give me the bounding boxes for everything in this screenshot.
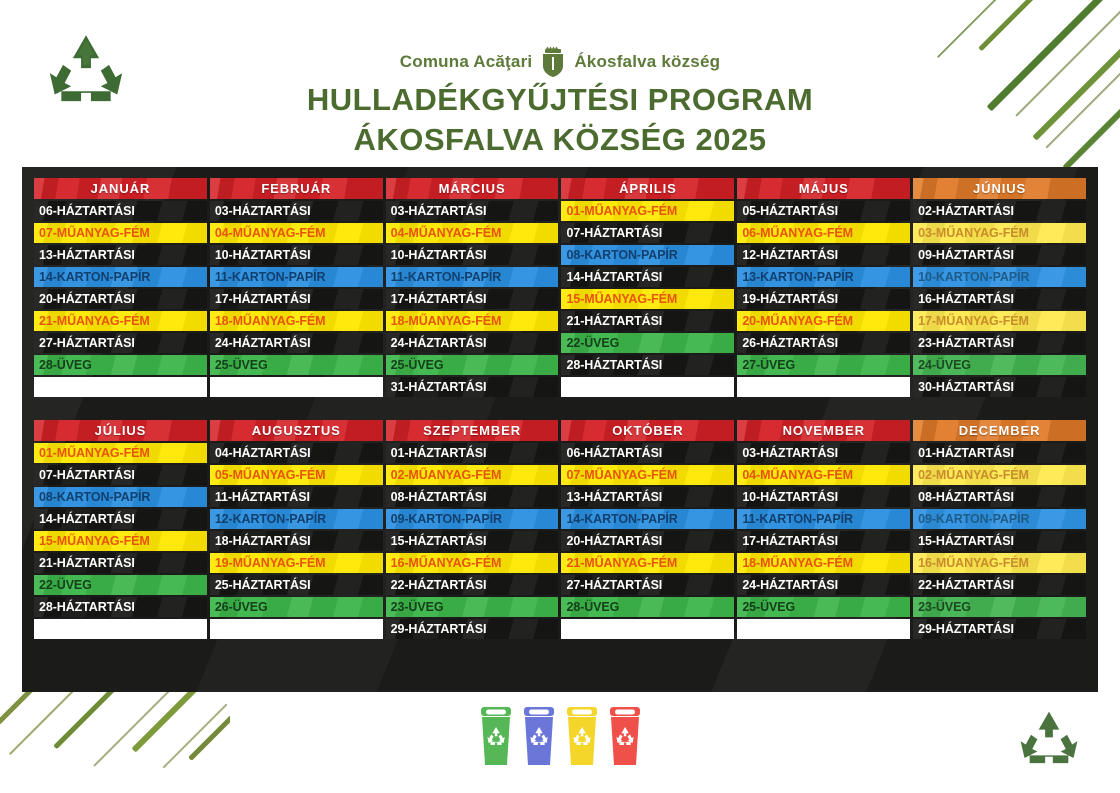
collection-cell-haztartasi[interactable]: 17-HÁZTARTÁSI: [386, 289, 559, 309]
collection-label: 18-MŰANYAG-FÉM: [742, 556, 853, 570]
collection-cell-karton[interactable]: 08-KARTON-PAPÍR: [34, 487, 207, 507]
collection-label: 09-HÁZTARTÁSI: [918, 248, 1014, 262]
collection-label: 03-HÁZTARTÁSI: [215, 204, 311, 218]
collection-label: 21-HÁZTARTÁSI: [39, 556, 135, 570]
collection-cell-haztartasi[interactable]: 21-HÁZTARTÁSI: [561, 311, 734, 331]
collection-label: 05-HÁZTARTÁSI: [742, 204, 838, 218]
collection-label: 14-KARTON-PAPÍR: [566, 512, 677, 526]
collection-label: 03-HÁZTARTÁSI: [391, 204, 487, 218]
empty-cell: [561, 377, 734, 397]
collection-label: 17-HÁZTARTÁSI: [391, 292, 487, 306]
collection-label: 08-KARTON-PAPÍR: [39, 490, 150, 504]
collection-label: 28-HÁZTARTÁSI: [39, 600, 135, 614]
month-header-november[interactable]: NOVEMBER: [737, 420, 910, 441]
collection-label: 08-KARTON-PAPÍR: [566, 248, 677, 262]
collection-cell-haztartasi[interactable]: 06-HÁZTARTÁSI: [34, 201, 207, 221]
month-name: NOVEMBER: [783, 423, 865, 438]
collection-cell-muanyag[interactable]: 03-MŰANYAG-FÉM: [913, 223, 1086, 243]
collection-cell-uveg[interactable]: 28-ÜVEG: [34, 355, 207, 375]
collection-cell-uveg[interactable]: 25-ÜVEG: [386, 355, 559, 375]
collection-label: 10-KARTON-PAPÍR: [918, 270, 1029, 284]
month-name: MÁRCIUS: [439, 181, 506, 196]
collection-label: 18-MŰANYAG-FÉM: [391, 314, 502, 328]
collection-label: 28-ÜVEG: [39, 358, 92, 372]
cell-texture: [210, 619, 383, 639]
collection-cell-karton[interactable]: 11-KARTON-PAPÍR: [210, 267, 383, 287]
collection-cell-karton[interactable]: 14-KARTON-PAPÍR: [34, 267, 207, 287]
collection-label: 01-HÁZTARTÁSI: [918, 446, 1014, 460]
collection-label: 19-MŰANYAG-FÉM: [215, 556, 326, 570]
collection-label: 16-MŰANYAG-FÉM: [391, 556, 502, 570]
collection-cell-haztartasi[interactable]: 17-HÁZTARTÁSI: [737, 531, 910, 551]
collection-cell-haztartasi[interactable]: 22-HÁZTARTÁSI: [913, 575, 1086, 595]
month-header-január[interactable]: JANUÁR: [34, 178, 207, 199]
collection-cell-muanyag[interactable]: 07-MŰANYAG-FÉM: [561, 465, 734, 485]
collection-label: 01-MŰANYAG-FÉM: [566, 204, 677, 218]
recycle-icon: [1016, 709, 1082, 767]
month-grid: JÚLIUSAUGUSZTUSSZEPTEMBEROKTÓBERNOVEMBER…: [31, 418, 1089, 641]
collection-row: 20-HÁZTARTÁSI17-HÁZTARTÁSI17-HÁZTARTÁSI1…: [34, 289, 1086, 309]
bin-yellow: [565, 707, 599, 765]
collection-cell-uveg[interactable]: 25-ÜVEG: [210, 355, 383, 375]
collection-cell-uveg[interactable]: 27-ÜVEG: [737, 355, 910, 375]
collection-label: 08-HÁZTARTÁSI: [391, 490, 487, 504]
collection-cell-muanyag[interactable]: 04-MŰANYAG-FÉM: [386, 223, 559, 243]
collection-label: 11-KARTON-PAPÍR: [742, 512, 853, 526]
month-header-szeptember[interactable]: SZEPTEMBER: [386, 420, 559, 441]
waste-bins-illustration: [0, 707, 1120, 765]
collection-label: 24-HÁZTARTÁSI: [742, 578, 838, 592]
collection-row: 21-HÁZTARTÁSI19-MŰANYAG-FÉM16-MŰANYAG-FÉ…: [34, 553, 1086, 573]
month-name: JÚLIUS: [95, 423, 147, 438]
collection-cell-muanyag[interactable]: 15-MŰANYAG-FÉM: [34, 531, 207, 551]
collection-label: 10-HÁZTARTÁSI: [215, 248, 311, 262]
cell-texture: [737, 619, 910, 639]
collection-label: 12-HÁZTARTÁSI: [742, 248, 838, 262]
collection-label: 24-HÁZTARTÁSI: [391, 336, 487, 350]
collection-label: 10-HÁZTARTÁSI: [391, 248, 487, 262]
collection-cell-haztartasi[interactable]: 05-HÁZTARTÁSI: [737, 201, 910, 221]
collection-label: 15-HÁZTARTÁSI: [918, 534, 1014, 548]
collection-cell-haztartasi[interactable]: 14-HÁZTARTÁSI: [34, 509, 207, 529]
month-header-február[interactable]: FEBRUÁR: [210, 178, 383, 199]
collection-row: 27-HÁZTARTÁSI24-HÁZTARTÁSI24-HÁZTARTÁSI2…: [34, 333, 1086, 353]
collection-cell-haztartasi[interactable]: 01-HÁZTARTÁSI: [913, 443, 1086, 463]
collection-cell-haztartasi[interactable]: 13-HÁZTARTÁSI: [561, 487, 734, 507]
collection-cell-muanyag[interactable]: 17-MŰANYAG-FÉM: [913, 311, 1086, 331]
month-header-október[interactable]: OKTÓBER: [561, 420, 734, 441]
collection-cell-haztartasi[interactable]: 23-HÁZTARTÁSI: [913, 333, 1086, 353]
collection-cell-muanyag[interactable]: 18-MŰANYAG-FÉM: [737, 553, 910, 573]
collection-cell-haztartasi[interactable]: 24-HÁZTARTÁSI: [210, 333, 383, 353]
collection-cell-uveg[interactable]: 22-ÜVEG: [34, 575, 207, 595]
month-name: ÁPRILIS: [619, 181, 677, 196]
collection-label: 12-KARTON-PAPÍR: [215, 512, 326, 526]
bin-green: [479, 707, 513, 765]
collection-cell-haztartasi[interactable]: 02-HÁZTARTÁSI: [913, 201, 1086, 221]
calendar-table-first-half: JANUÁRFEBRUÁRMÁRCIUSÁPRILISMÁJUSJÚNIUS06…: [31, 176, 1089, 399]
month-name: JANUÁR: [91, 181, 151, 196]
collection-label: 17-MŰANYAG-FÉM: [918, 314, 1029, 328]
collection-cell-muanyag[interactable]: 06-MŰANYAG-FÉM: [737, 223, 910, 243]
cell-texture: [34, 619, 207, 639]
collection-row: 31-HÁZTARTÁSI30-HÁZTARTÁSI: [34, 377, 1086, 397]
collection-cell-uveg[interactable]: 23-ÜVEG: [913, 597, 1086, 617]
calendar-table-second-half: JÚLIUSAUGUSZTUSSZEPTEMBEROKTÓBERNOVEMBER…: [31, 418, 1089, 641]
waste-collection-calendar: JANUÁRFEBRUÁRMÁRCIUSÁPRILISMÁJUSJÚNIUS06…: [22, 167, 1098, 692]
collection-cell-haztartasi[interactable]: 29-HÁZTARTÁSI: [913, 619, 1086, 639]
month-name: OKTÓBER: [612, 423, 683, 438]
empty-cell: [34, 377, 207, 397]
collection-label: 26-HÁZTARTÁSI: [742, 336, 838, 350]
collection-label: 29-HÁZTARTÁSI: [391, 622, 487, 636]
coat-of-arms-icon: [540, 46, 566, 78]
collection-label: 13-HÁZTARTÁSI: [566, 490, 662, 504]
collection-label: 24-HÁZTARTÁSI: [215, 336, 311, 350]
collection-label: 11-KARTON-PAPÍR: [215, 270, 326, 284]
collection-cell-uveg[interactable]: 22-ÜVEG: [561, 333, 734, 353]
collection-row: 14-HÁZTARTÁSI12-KARTON-PAPÍR09-KARTON-PA…: [34, 509, 1086, 529]
collection-cell-muanyag[interactable]: 18-MŰANYAG-FÉM: [386, 311, 559, 331]
collection-row: 07-HÁZTARTÁSI05-MŰANYAG-FÉM02-MŰANYAG-FÉ…: [34, 465, 1086, 485]
collection-cell-haztartasi[interactable]: 24-HÁZTARTÁSI: [737, 575, 910, 595]
collection-cell-haztartasi[interactable]: 30-HÁZTARTÁSI: [913, 377, 1086, 397]
collection-label: 07-HÁZTARTÁSI: [566, 226, 662, 240]
collection-label: 23-ÜVEG: [918, 600, 971, 614]
collection-label: 02-MŰANYAG-FÉM: [391, 468, 502, 482]
collection-cell-muanyag[interactable]: 16-MŰANYAG-FÉM: [386, 553, 559, 573]
collection-label: 05-MŰANYAG-FÉM: [215, 468, 326, 482]
collection-label: 14-HÁZTARTÁSI: [39, 512, 135, 526]
page-header: Comuna Acăţari Ákosfalva község HULLADÉK…: [0, 0, 1120, 168]
collection-label: 11-KARTON-PAPÍR: [391, 270, 502, 284]
collection-cell-haztartasi[interactable]: 18-HÁZTARTÁSI: [210, 531, 383, 551]
collection-cell-muanyag[interactable]: 18-MŰANYAG-FÉM: [210, 311, 383, 331]
collection-label: 06-HÁZTARTÁSI: [566, 446, 662, 460]
collection-label: 04-MŰANYAG-FÉM: [391, 226, 502, 240]
collection-cell-haztartasi[interactable]: 08-HÁZTARTÁSI: [386, 487, 559, 507]
collection-label: 20-MŰANYAG-FÉM: [742, 314, 853, 328]
title-line-1: HULLADÉKGYŰJTÉSI PROGRAM: [0, 80, 1120, 120]
month-name: FEBRUÁR: [261, 181, 331, 196]
collection-cell-haztartasi[interactable]: 26-HÁZTARTÁSI: [737, 333, 910, 353]
collection-label: 20-HÁZTARTÁSI: [566, 534, 662, 548]
collection-label: 16-MŰANYAG-FÉM: [918, 556, 1029, 570]
collection-cell-haztartasi[interactable]: 10-HÁZTARTÁSI: [210, 245, 383, 265]
collection-cell-haztartasi[interactable]: 13-HÁZTARTÁSI: [34, 245, 207, 265]
collection-cell-uveg[interactable]: 24-ÜVEG: [913, 355, 1086, 375]
collection-cell-muanyag[interactable]: 01-MŰANYAG-FÉM: [561, 201, 734, 221]
collection-row: 06-HÁZTARTÁSI03-HÁZTARTÁSI03-HÁZTARTÁSI0…: [34, 201, 1086, 221]
collection-cell-haztartasi[interactable]: 20-HÁZTARTÁSI: [561, 531, 734, 551]
collection-label: 25-ÜVEG: [391, 358, 444, 372]
collection-label: 15-MŰANYAG-FÉM: [566, 292, 677, 306]
collection-cell-muanyag[interactable]: 15-MŰANYAG-FÉM: [561, 289, 734, 309]
collection-cell-haztartasi[interactable]: 21-HÁZTARTÁSI: [34, 553, 207, 573]
collection-label: 22-HÁZTARTÁSI: [918, 578, 1014, 592]
collection-cell-karton[interactable]: 14-KARTON-PAPÍR: [561, 509, 734, 529]
month-name: JÚNIUS: [973, 181, 1026, 196]
municipality-name-hu: Ákosfalva község: [574, 52, 720, 72]
collection-label: 27-HÁZTARTÁSI: [566, 578, 662, 592]
collection-cell-haztartasi[interactable]: 27-HÁZTARTÁSI: [561, 575, 734, 595]
collection-cell-haztartasi[interactable]: 12-HÁZTARTÁSI: [737, 245, 910, 265]
collection-label: 17-HÁZTARTÁSI: [215, 292, 311, 306]
collection-label: 14-KARTON-PAPÍR: [39, 270, 150, 284]
collection-label: 25-ÜVEG: [742, 600, 795, 614]
collection-cell-haztartasi[interactable]: 03-HÁZTARTÁSI: [210, 201, 383, 221]
collection-cell-muanyag[interactable]: 05-MŰANYAG-FÉM: [210, 465, 383, 485]
collection-cell-haztartasi[interactable]: 07-HÁZTARTÁSI: [34, 465, 207, 485]
collection-cell-haztartasi[interactable]: 15-HÁZTARTÁSI: [386, 531, 559, 551]
collection-row: 29-HÁZTARTÁSI29-HÁZTARTÁSI: [34, 619, 1086, 639]
collection-cell-karton[interactable]: 12-KARTON-PAPÍR: [210, 509, 383, 529]
collection-cell-karton[interactable]: 09-KARTON-PAPÍR: [386, 509, 559, 529]
collection-cell-karton[interactable]: 09-KARTON-PAPÍR: [913, 509, 1086, 529]
collection-label: 08-HÁZTARTÁSI: [918, 490, 1014, 504]
month-header-row: JANUÁRFEBRUÁRMÁRCIUSÁPRILISMÁJUSJÚNIUS: [34, 178, 1086, 199]
collection-cell-haztartasi[interactable]: 29-HÁZTARTÁSI: [386, 619, 559, 639]
cell-texture: [561, 377, 734, 397]
collection-label: 18-HÁZTARTÁSI: [215, 534, 311, 548]
collection-label: 04-MŰANYAG-FÉM: [215, 226, 326, 240]
bin-red: [608, 707, 642, 765]
collection-cell-haztartasi[interactable]: 11-HÁZTARTÁSI: [210, 487, 383, 507]
collection-label: 02-MŰANYAG-FÉM: [918, 468, 1029, 482]
collection-cell-muanyag[interactable]: 04-MŰANYAG-FÉM: [737, 465, 910, 485]
collection-cell-muanyag[interactable]: 04-MŰANYAG-FÉM: [210, 223, 383, 243]
collection-cell-haztartasi[interactable]: 31-HÁZTARTÁSI: [386, 377, 559, 397]
collection-label: 06-HÁZTARTÁSI: [39, 204, 135, 218]
collection-label: 21-HÁZTARTÁSI: [566, 314, 662, 328]
collection-label: 22-ÜVEG: [566, 336, 619, 350]
collection-cell-haztartasi[interactable]: 04-HÁZTARTÁSI: [210, 443, 383, 463]
collection-cell-haztartasi[interactable]: 03-HÁZTARTÁSI: [386, 201, 559, 221]
collection-label: 13-KARTON-PAPÍR: [742, 270, 853, 284]
municipality-line: Comuna Acăţari Ákosfalva község: [0, 46, 1120, 78]
collection-label: 21-MŰANYAG-FÉM: [39, 314, 150, 328]
collection-cell-muanyag[interactable]: 20-MŰANYAG-FÉM: [737, 311, 910, 331]
collection-row: 14-KARTON-PAPÍR11-KARTON-PAPÍR11-KARTON-…: [34, 267, 1086, 287]
table-separator: [31, 399, 1089, 418]
collection-label: 07-MŰANYAG-FÉM: [566, 468, 677, 482]
collection-cell-uveg[interactable]: 26-ÜVEG: [210, 597, 383, 617]
collection-cell-haztartasi[interactable]: 10-HÁZTARTÁSI: [737, 487, 910, 507]
collection-label: 26-ÜVEG: [215, 600, 268, 614]
collection-row: 01-MŰANYAG-FÉM04-HÁZTARTÁSI01-HÁZTARTÁSI…: [34, 443, 1086, 463]
collection-cell-karton[interactable]: 11-KARTON-PAPÍR: [386, 267, 559, 287]
collection-label: 24-ÜVEG: [918, 358, 971, 372]
collection-cell-haztartasi[interactable]: 16-HÁZTARTÁSI: [913, 289, 1086, 309]
collection-cell-haztartasi[interactable]: 08-HÁZTARTÁSI: [913, 487, 1086, 507]
month-name: SZEPTEMBER: [423, 423, 521, 438]
collection-row: 22-ÜVEG25-HÁZTARTÁSI22-HÁZTARTÁSI27-HÁZT…: [34, 575, 1086, 595]
collection-label: 28-ÜVEG: [566, 600, 619, 614]
collection-cell-muanyag[interactable]: 21-MŰANYAG-FÉM: [34, 311, 207, 331]
collection-row: 13-HÁZTARTÁSI10-HÁZTARTÁSI10-HÁZTARTÁSI0…: [34, 245, 1086, 265]
collection-label: 27-HÁZTARTÁSI: [39, 336, 135, 350]
collection-label: 15-MŰANYAG-FÉM: [39, 534, 150, 548]
month-header-március[interactable]: MÁRCIUS: [386, 178, 559, 199]
empty-cell: [34, 619, 207, 639]
collection-cell-muanyag[interactable]: 16-MŰANYAG-FÉM: [913, 553, 1086, 573]
collection-label: 11-HÁZTARTÁSI: [215, 490, 310, 504]
collection-cell-haztartasi[interactable]: 20-HÁZTARTÁSI: [34, 289, 207, 309]
collection-label: 07-MŰANYAG-FÉM: [39, 226, 150, 240]
collection-cell-haztartasi[interactable]: 19-HÁZTARTÁSI: [737, 289, 910, 309]
collection-label: 20-HÁZTARTÁSI: [39, 292, 135, 306]
collection-cell-muanyag[interactable]: 21-MŰANYAG-FÉM: [561, 553, 734, 573]
collection-label: 17-HÁZTARTÁSI: [742, 534, 838, 548]
collection-cell-karton[interactable]: 10-KARTON-PAPÍR: [913, 267, 1086, 287]
collection-label: 22-ÜVEG: [39, 578, 92, 592]
collection-cell-uveg[interactable]: 25-ÜVEG: [737, 597, 910, 617]
month-header-row: JÚLIUSAUGUSZTUSSZEPTEMBEROKTÓBERNOVEMBER…: [34, 420, 1086, 441]
collection-cell-muanyag[interactable]: 19-MŰANYAG-FÉM: [210, 553, 383, 573]
collection-label: 22-HÁZTARTÁSI: [391, 578, 487, 592]
collection-cell-haztartasi[interactable]: 14-HÁZTARTÁSI: [561, 267, 734, 287]
collection-cell-haztartasi[interactable]: 17-HÁZTARTÁSI: [210, 289, 383, 309]
title-line-2: ÁKOSFALVA KÖZSÉG 2025: [0, 120, 1120, 160]
collection-label: 31-HÁZTARTÁSI: [391, 380, 487, 394]
collection-label: 10-HÁZTARTÁSI: [742, 490, 838, 504]
collection-label: 14-HÁZTARTÁSI: [566, 270, 662, 284]
collection-cell-muanyag[interactable]: 07-MŰANYAG-FÉM: [34, 223, 207, 243]
collection-label: 09-KARTON-PAPÍR: [918, 512, 1029, 526]
collection-label: 18-MŰANYAG-FÉM: [215, 314, 326, 328]
collection-label: 07-HÁZTARTÁSI: [39, 468, 135, 482]
collection-cell-haztartasi[interactable]: 15-HÁZTARTÁSI: [913, 531, 1086, 551]
collection-label: 13-HÁZTARTÁSI: [39, 248, 135, 262]
collection-cell-karton[interactable]: 13-KARTON-PAPÍR: [737, 267, 910, 287]
collection-label: 25-ÜVEG: [215, 358, 268, 372]
month-header-július[interactable]: JÚLIUS: [34, 420, 207, 441]
collection-cell-karton[interactable]: 08-KARTON-PAPÍR: [561, 245, 734, 265]
collection-label: 19-HÁZTARTÁSI: [742, 292, 838, 306]
empty-cell: [737, 619, 910, 639]
collection-label: 21-MŰANYAG-FÉM: [566, 556, 677, 570]
month-header-április[interactable]: ÁPRILIS: [561, 178, 734, 199]
collection-cell-haztartasi[interactable]: 10-HÁZTARTÁSI: [386, 245, 559, 265]
collection-label: 30-HÁZTARTÁSI: [918, 380, 1014, 394]
collection-label: 01-HÁZTARTÁSI: [391, 446, 487, 460]
collection-cell-haztartasi[interactable]: 24-HÁZTARTÁSI: [386, 333, 559, 353]
month-grid: JANUÁRFEBRUÁRMÁRCIUSÁPRILISMÁJUSJÚNIUS06…: [31, 176, 1089, 399]
collection-cell-haztartasi[interactable]: 22-HÁZTARTÁSI: [386, 575, 559, 595]
cell-texture: [34, 377, 207, 397]
page-title: HULLADÉKGYŰJTÉSI PROGRAM ÁKOSFALVA KÖZSÉ…: [0, 80, 1120, 159]
municipality-name-ro: Comuna Acăţari: [400, 52, 533, 72]
collection-label: 09-KARTON-PAPÍR: [391, 512, 502, 526]
empty-cell: [210, 377, 383, 397]
bin-blue: [522, 707, 556, 765]
collection-label: 04-MŰANYAG-FÉM: [742, 468, 853, 482]
cell-texture: [561, 619, 734, 639]
collection-cell-haztartasi[interactable]: 28-HÁZTARTÁSI: [561, 355, 734, 375]
collection-row: 08-KARTON-PAPÍR11-HÁZTARTÁSI08-HÁZTARTÁS…: [34, 487, 1086, 507]
collection-cell-haztartasi[interactable]: 09-HÁZTARTÁSI: [913, 245, 1086, 265]
collection-label: 01-MŰANYAG-FÉM: [39, 446, 150, 460]
collection-cell-uveg[interactable]: 28-ÜVEG: [561, 597, 734, 617]
collection-label: 03-HÁZTARTÁSI: [742, 446, 838, 460]
month-name: AUGUSZTUS: [252, 423, 341, 438]
collection-label: 15-HÁZTARTÁSI: [391, 534, 487, 548]
collection-label: 25-HÁZTARTÁSI: [215, 578, 311, 592]
collection-row: 07-MŰANYAG-FÉM04-MŰANYAG-FÉM04-MŰANYAG-F…: [34, 223, 1086, 243]
collection-cell-karton[interactable]: 11-KARTON-PAPÍR: [737, 509, 910, 529]
collection-row: 28-ÜVEG25-ÜVEG25-ÜVEG28-HÁZTARTÁSI27-ÜVE…: [34, 355, 1086, 375]
collection-label: 16-HÁZTARTÁSI: [918, 292, 1014, 306]
collection-row: 21-MŰANYAG-FÉM18-MŰANYAG-FÉM18-MŰANYAG-F…: [34, 311, 1086, 331]
collection-cell-haztartasi[interactable]: 01-HÁZTARTÁSI: [386, 443, 559, 463]
collection-label: 02-HÁZTARTÁSI: [918, 204, 1014, 218]
month-header-december[interactable]: DECEMBER: [913, 420, 1086, 441]
month-header-május[interactable]: MÁJUS: [737, 178, 910, 199]
collection-label: 04-HÁZTARTÁSI: [215, 446, 311, 460]
month-name: MÁJUS: [799, 181, 849, 196]
collection-cell-muanyag[interactable]: 02-MŰANYAG-FÉM: [913, 465, 1086, 485]
collection-row: 15-MŰANYAG-FÉM18-HÁZTARTÁSI15-HÁZTARTÁSI…: [34, 531, 1086, 551]
collection-label: 27-ÜVEG: [742, 358, 795, 372]
cell-texture: [737, 377, 910, 397]
collection-cell-haztartasi[interactable]: 07-HÁZTARTÁSI: [561, 223, 734, 243]
collection-cell-haztartasi[interactable]: 28-HÁZTARTÁSI: [34, 597, 207, 617]
collection-label: 23-HÁZTARTÁSI: [918, 336, 1014, 350]
collection-cell-muanyag[interactable]: 02-MŰANYAG-FÉM: [386, 465, 559, 485]
month-header-augusztus[interactable]: AUGUSZTUS: [210, 420, 383, 441]
collection-cell-haztartasi[interactable]: 27-HÁZTARTÁSI: [34, 333, 207, 353]
month-name: DECEMBER: [959, 423, 1041, 438]
collection-label: 28-HÁZTARTÁSI: [566, 358, 662, 372]
empty-cell: [561, 619, 734, 639]
collection-cell-uveg[interactable]: 23-ÜVEG: [386, 597, 559, 617]
empty-cell: [737, 377, 910, 397]
collection-label: 29-HÁZTARTÁSI: [918, 622, 1014, 636]
collection-row: 28-HÁZTARTÁSI26-ÜVEG23-ÜVEG28-ÜVEG25-ÜVE…: [34, 597, 1086, 617]
collection-label: 06-MŰANYAG-FÉM: [742, 226, 853, 240]
collection-cell-haztartasi[interactable]: 25-HÁZTARTÁSI: [210, 575, 383, 595]
month-header-június[interactable]: JÚNIUS: [913, 178, 1086, 199]
collection-cell-haztartasi[interactable]: 06-HÁZTARTÁSI: [561, 443, 734, 463]
empty-cell: [210, 619, 383, 639]
collection-label: 23-ÜVEG: [391, 600, 444, 614]
collection-cell-haztartasi[interactable]: 03-HÁZTARTÁSI: [737, 443, 910, 463]
cell-texture: [210, 377, 383, 397]
collection-cell-muanyag[interactable]: 01-MŰANYAG-FÉM: [34, 443, 207, 463]
collection-label: 03-MŰANYAG-FÉM: [918, 226, 1029, 240]
